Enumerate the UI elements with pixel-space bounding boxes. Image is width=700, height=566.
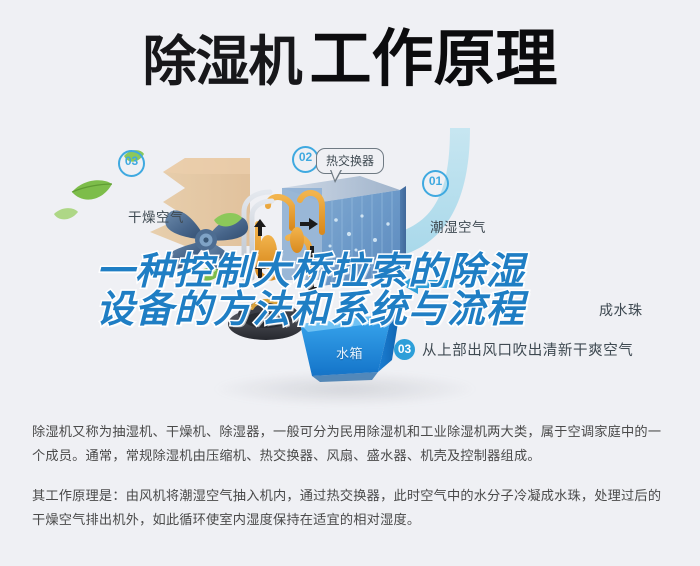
badge-step-03-filled: 03 <box>394 339 415 360</box>
body-paragraph-1: 除湿机又称为抽湿机、干燥机、除湿器，一般可分为民用除湿机和工业除湿机两大类，属于… <box>32 421 672 469</box>
body-copy: 除湿机又称为抽湿机、干燥机、除湿器，一般可分为民用除湿机和工业除湿机两大类，属于… <box>32 421 672 533</box>
label-humid-air: 潮湿空气 <box>430 216 486 236</box>
badge-step-03: 03 <box>118 150 145 177</box>
body-paragraph-2: 其工作原理是：由风机将潮湿空气抽入机内，通过热交换器，此时空气中的水分子冷凝成水… <box>32 485 672 533</box>
overlay-headline-line-1: 一种控制大桥拉索的除湿 <box>96 252 608 290</box>
step-03-caption-text: 从上部出风口吹出清新干爽空气 <box>422 339 633 360</box>
dehumidifier-infographic-page: 除湿机工作原理 <box>0 0 700 566</box>
machine-reflection <box>215 372 475 406</box>
label-dry-air: 干燥空气 <box>128 206 184 226</box>
badge-step-01: 01 <box>422 170 449 197</box>
overlay-headline: 一种控制大桥拉索的除湿 设备的方法和系统与流程 <box>96 252 608 328</box>
callout-heat-exchanger: 热交换器 <box>316 148 384 174</box>
badge-step-02: 02 <box>292 146 319 173</box>
title-part-1: 除湿机 <box>142 30 301 93</box>
page-title: 除湿机工作原理 <box>0 28 700 90</box>
label-water-tank: 水箱 <box>336 343 363 362</box>
title-part-2: 工作原理 <box>309 22 557 95</box>
overlay-headline-line-2: 设备的方法和系统与流程 <box>96 290 608 328</box>
step-03-caption: 03 从上部出风口吹出清新干爽空气 <box>394 339 633 360</box>
callout-tail-inner <box>331 169 341 180</box>
